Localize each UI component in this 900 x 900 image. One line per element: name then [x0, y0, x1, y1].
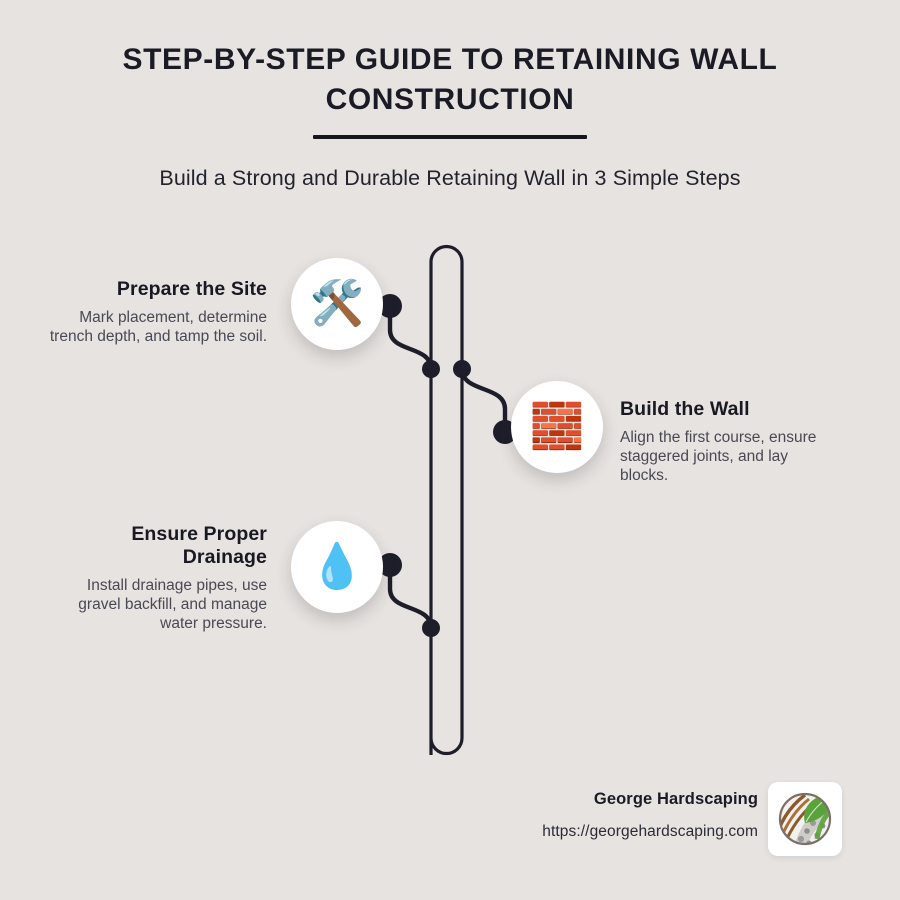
logo-badge [768, 782, 842, 856]
page-title: STEP-BY-STEP GUIDE TO RETAINING WALL CON… [60, 40, 840, 119]
george-hardscaping-logo-icon [775, 789, 835, 849]
step-heading-3: Ensure Proper Drainage [45, 523, 267, 569]
spine-path [431, 246, 462, 755]
title-divider [313, 135, 587, 139]
step-body-3: Install drainage pipes, use gravel backf… [45, 576, 267, 634]
branch-path-1 [390, 306, 431, 369]
branch-path-3 [390, 565, 431, 628]
brand-name: George Hardscaping [468, 790, 758, 809]
brand-url[interactable]: https://georgehardscaping.com [468, 823, 758, 841]
brick-icon: 🧱 [530, 405, 585, 449]
page-subtitle: Build a Strong and Durable Retaining Wal… [60, 166, 840, 191]
branch-path-2 [462, 369, 505, 432]
step-text-block-3: Ensure Proper Drainage Install drainage … [45, 523, 267, 634]
header: STEP-BY-STEP GUIDE TO RETAINING WALL CON… [60, 40, 840, 191]
step-text-block-1: Prepare the Site Mark placement, determi… [45, 278, 267, 346]
hammer-and-wrench-icon: 🛠️ [310, 282, 365, 326]
spine-node-1 [422, 360, 440, 378]
spine-node-2 [453, 360, 471, 378]
step-text-block-2: Build the Wall Align the first course, e… [620, 398, 835, 486]
step-body-1: Mark placement, determine trench depth, … [45, 308, 267, 346]
step-body-2: Align the first course, ensure staggered… [620, 428, 835, 486]
infographic-canvas: STEP-BY-STEP GUIDE TO RETAINING WALL CON… [0, 0, 900, 900]
step-icon-circle-3: 💧 [291, 521, 383, 613]
step-heading-2: Build the Wall [620, 398, 835, 421]
water-droplet-icon: 💧 [310, 545, 365, 589]
step-icon-circle-1: 🛠️ [291, 258, 383, 350]
step-icon-circle-2: 🧱 [511, 381, 603, 473]
spine-node-3 [422, 619, 440, 637]
step-heading-1: Prepare the Site [45, 278, 267, 301]
footer: George Hardscaping https://georgehardsca… [452, 790, 842, 866]
footer-text: George Hardscaping https://georgehardsca… [468, 790, 758, 841]
